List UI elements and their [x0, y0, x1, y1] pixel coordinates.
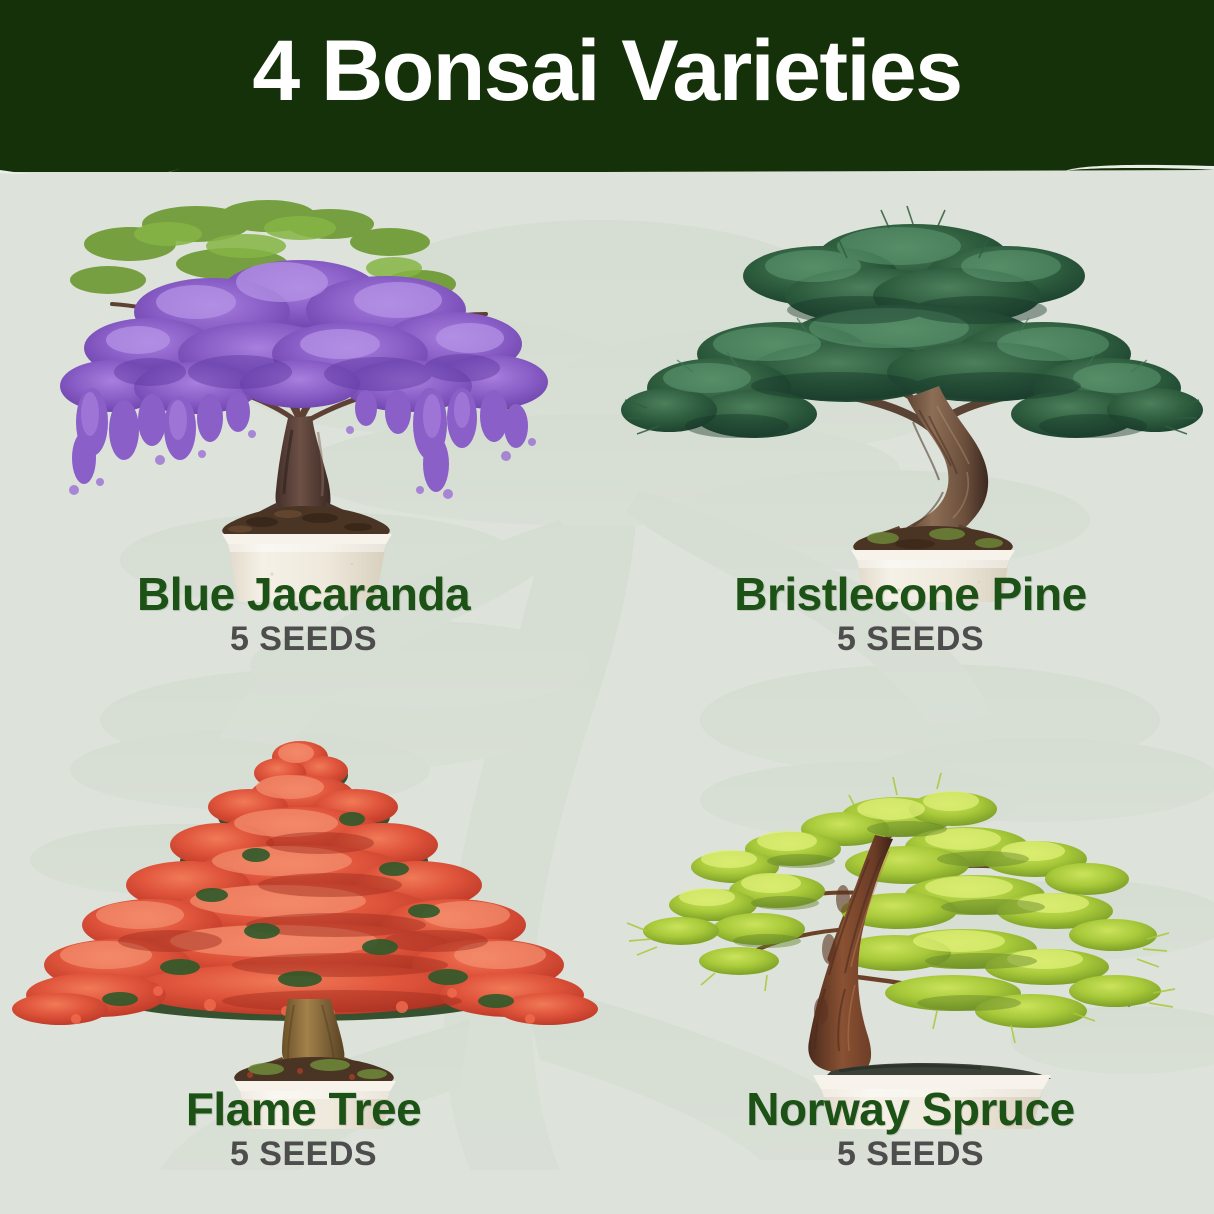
product-quantity: 5 SEEDS [607, 621, 1214, 658]
product-quantity: 5 SEEDS [0, 621, 607, 658]
product-name: Flame Tree [0, 1085, 607, 1133]
blue-jacaranda-bonsai-image [0, 172, 607, 602]
page-title: 4 Bonsai Varieties [0, 28, 1214, 114]
product-caption: Norway Spruce 5 SEEDS [607, 1085, 1214, 1174]
product-name: Bristlecone Pine [607, 570, 1214, 618]
flame-tree-bonsai-image [0, 699, 607, 1129]
product-grid: Blue Jacaranda 5 SEEDS [0, 172, 1214, 1214]
pot-rim [851, 550, 1015, 560]
pot-rim [222, 534, 392, 544]
product-caption: Flame Tree 5 SEEDS [0, 1085, 607, 1174]
product-card-blue-jacaranda[interactable]: Blue Jacaranda 5 SEEDS [0, 172, 607, 693]
header-banner: 4 Bonsai Varieties [0, 0, 1214, 172]
product-caption: Blue Jacaranda 5 SEEDS [0, 570, 607, 659]
product-quantity: 5 SEEDS [0, 1136, 607, 1173]
product-card-bristlecone-pine[interactable]: Bristlecone Pine 5 SEEDS [607, 172, 1214, 693]
infographic-root: 4 Bonsai Varieties [0, 0, 1214, 1214]
norway-spruce-bonsai-image [607, 699, 1214, 1129]
bristlecone-pine-bonsai-image [607, 172, 1214, 602]
product-name: Norway Spruce [607, 1085, 1214, 1133]
product-caption: Bristlecone Pine 5 SEEDS [607, 570, 1214, 659]
product-card-flame-tree[interactable]: Flame Tree 5 SEEDS [0, 693, 607, 1214]
product-name: Blue Jacaranda [0, 570, 607, 618]
product-card-norway-spruce[interactable]: Norway Spruce 5 SEEDS [607, 693, 1214, 1214]
product-quantity: 5 SEEDS [607, 1136, 1214, 1173]
